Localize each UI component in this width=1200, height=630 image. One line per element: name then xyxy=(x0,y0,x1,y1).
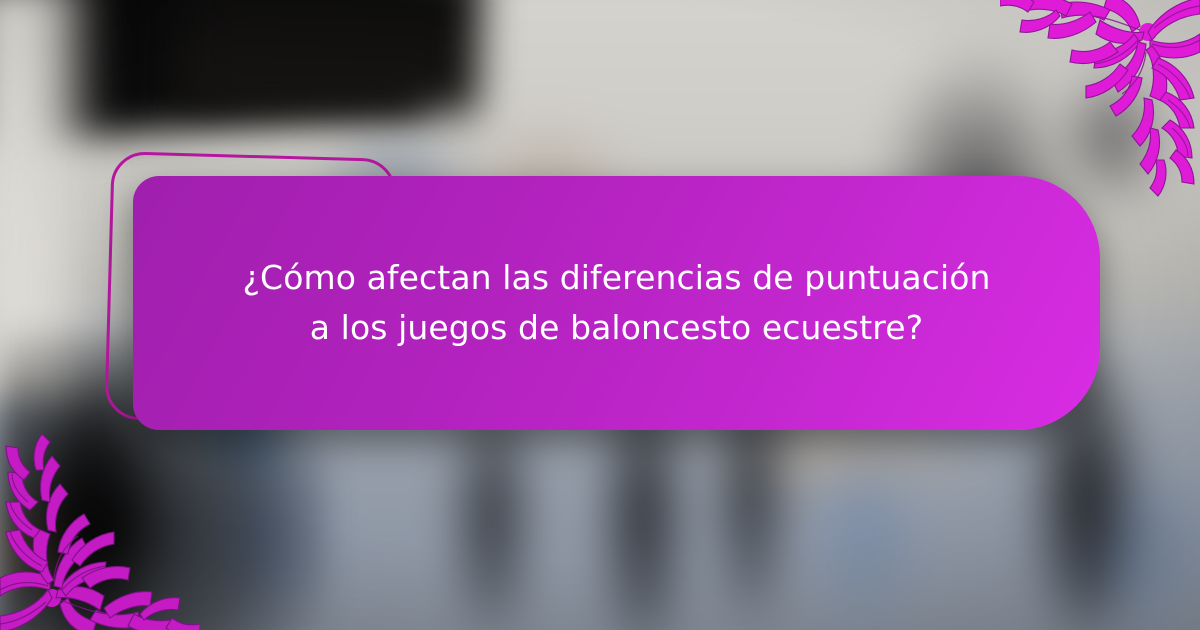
headline-line-2: a los juegos de baloncesto ecuestre? xyxy=(173,303,1060,353)
poster-canvas: ¿Cómo afectan las diferencias de puntuac… xyxy=(0,0,1200,630)
page-title: ¿Cómo afectan las diferencias de puntuac… xyxy=(133,253,1100,353)
headline-card: ¿Cómo afectan las diferencias de puntuac… xyxy=(133,176,1100,430)
headline-line-1: ¿Cómo afectan las diferencias de puntuac… xyxy=(242,258,990,297)
